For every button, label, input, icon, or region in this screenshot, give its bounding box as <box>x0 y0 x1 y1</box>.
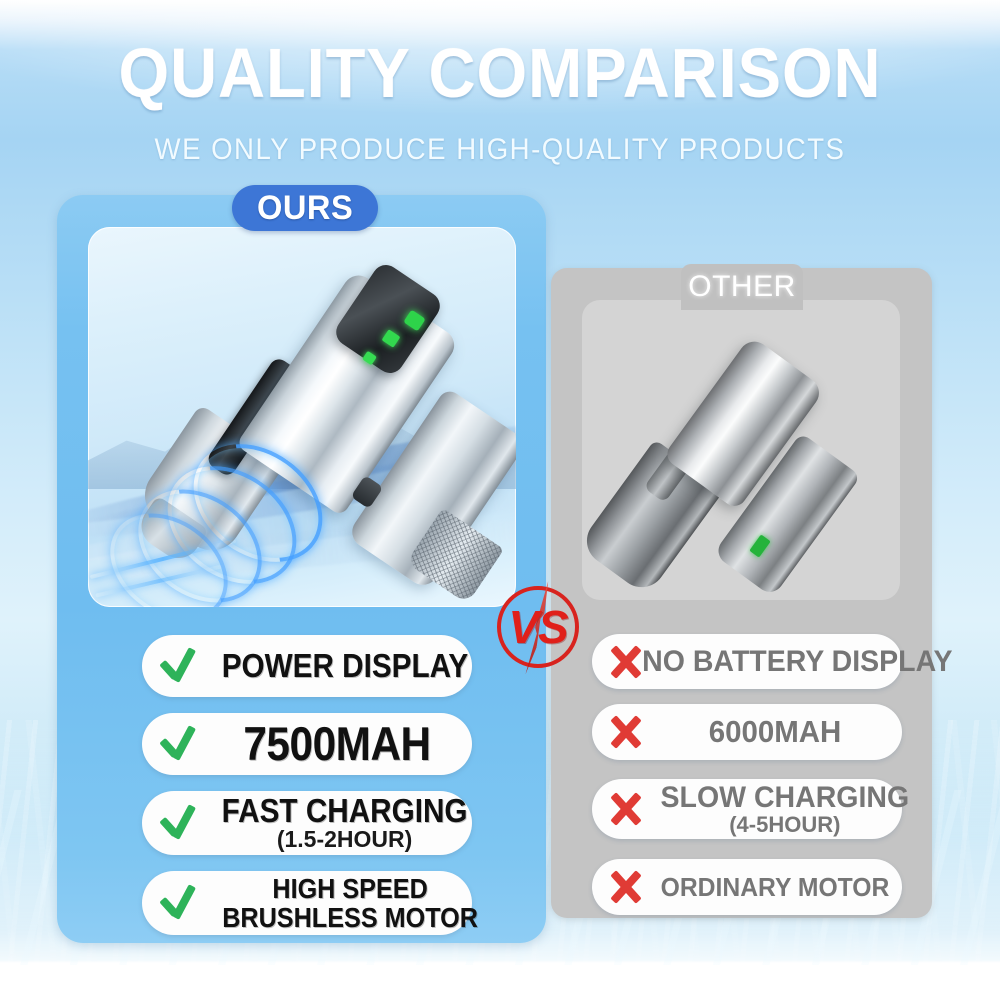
ours-feature-1: POWER DISPLAY <box>142 635 472 697</box>
other-feature-2-label: 6000MAH <box>660 715 890 749</box>
other-feature-1-label: NO BATTERY DISPLAY <box>642 645 952 678</box>
check-icon <box>142 724 202 764</box>
ours-feature-4-label: HIGH SPEED <box>222 874 478 903</box>
ours-feature-3-sublabel: (1.5-2HOUR) <box>208 827 481 852</box>
x-icon <box>592 789 648 829</box>
page-subtitle: WE ONLY PRODUCE HIGH-QUALITY PRODUCTS <box>40 133 960 167</box>
ours-badge-label: OURS <box>257 189 353 228</box>
ours-feature-1-label: POWER DISPLAY <box>222 648 468 684</box>
check-icon <box>142 646 202 686</box>
other-feature-4-label: ORDINARY MOTOR <box>660 873 890 901</box>
ours-badge: OURS <box>232 185 378 231</box>
other-feature-3-sublabel: (4-5HOUR) <box>654 813 916 837</box>
x-icon <box>592 642 648 682</box>
page-title: QUALITY COMPARISON <box>35 36 965 110</box>
other-feature-3-label: SLOW CHARGING <box>661 782 910 813</box>
ours-feature-2: 7500MAH <box>142 713 472 775</box>
check-icon <box>142 883 202 923</box>
other-feature-2: 6000MAH <box>592 704 902 760</box>
ours-feature-2-label: 7500MAH <box>221 719 453 769</box>
ours-feature-3: FAST CHARGING (1.5-2HOUR) <box>142 791 472 855</box>
other-feature-3: SLOW CHARGING (4-5HOUR) <box>592 779 902 839</box>
ours-feature-3-label: FAST CHARGING <box>222 794 468 827</box>
other-feature-1: NO BATTERY DISPLAY <box>592 634 902 689</box>
x-icon <box>592 867 648 907</box>
comparison-infographic: QUALITY COMPARISON WE ONLY PRODUCE HIGH-… <box>0 0 1000 1000</box>
ours-feature-4: HIGH SPEED BRUSHLESS MOTOR <box>142 871 472 935</box>
other-feature-4: ORDINARY MOTOR <box>592 859 902 915</box>
other-badge-label: OTHER <box>688 270 796 304</box>
versus-label: VS <box>497 586 579 668</box>
other-product-image <box>582 300 900 600</box>
other-badge: OTHER <box>681 264 803 310</box>
ours-product-image <box>88 227 516 607</box>
x-icon <box>592 712 648 752</box>
ours-feature-4-sublabel: BRUSHLESS MOTOR <box>222 903 478 932</box>
check-icon <box>142 803 202 843</box>
versus-badge: VS <box>497 586 579 668</box>
